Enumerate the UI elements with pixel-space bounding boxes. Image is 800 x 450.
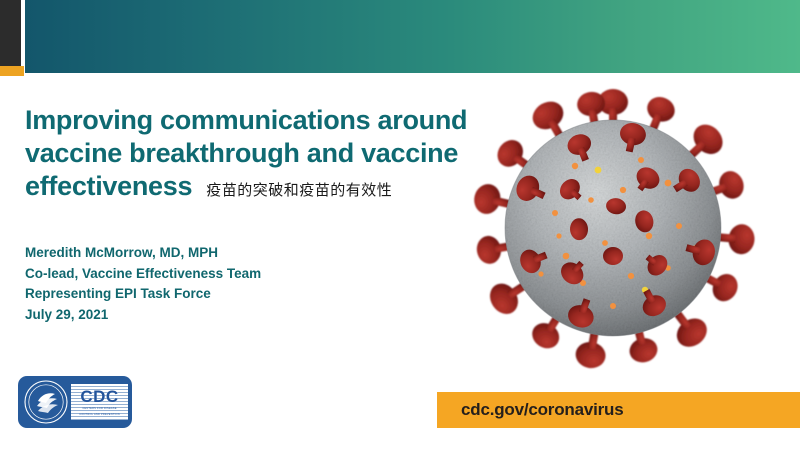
title-line-3-row: effectiveness 疫苗的突破和疫苗的有效性 <box>25 170 485 203</box>
title-line-2: vaccine breakthrough and vaccine <box>25 137 485 170</box>
presenter-byline: Meredith McMorrow, MD, MPH Co-lead, Vacc… <box>25 243 445 325</box>
title-line-1: Improving communications around <box>25 104 485 137</box>
orange-corner-tab <box>0 66 24 76</box>
dark-corner-tab <box>0 0 21 66</box>
title-line-3: effectiveness <box>25 170 192 203</box>
cdc-tagline-line-2: CONTROL AND PREVENTION <box>79 413 120 417</box>
byline-date: July 29, 2021 <box>25 305 445 326</box>
byline-affiliation: Representing EPI Task Force <box>25 284 445 305</box>
page-title: Improving communications around vaccine … <box>25 104 485 203</box>
cdc-logo: CDC CENTERS FOR DISEASE CONTROL AND PREV… <box>18 376 132 428</box>
url-banner[interactable]: cdc.gov/coronavirus <box>437 392 800 428</box>
slide-canvas: Improving communications around vaccine … <box>0 0 800 450</box>
coronavirus-illustration <box>463 78 763 378</box>
cdc-tagline-line-1: CENTERS FOR DISEASE <box>82 407 116 411</box>
byline-role: Co-lead, Vaccine Effectiveness Team <box>25 264 445 285</box>
header-gradient-band <box>25 0 800 73</box>
cdc-wordmark: CDC CENTERS FOR DISEASE CONTROL AND PREV… <box>71 384 128 420</box>
cdc-wordmark-text: CDC <box>80 388 118 405</box>
hhs-seal-icon <box>24 380 68 424</box>
byline-presenter-name: Meredith McMorrow, MD, MPH <box>25 243 445 264</box>
title-translation-chinese: 疫苗的突破和疫苗的有效性 <box>206 181 392 199</box>
url-banner-text: cdc.gov/coronavirus <box>461 400 623 420</box>
